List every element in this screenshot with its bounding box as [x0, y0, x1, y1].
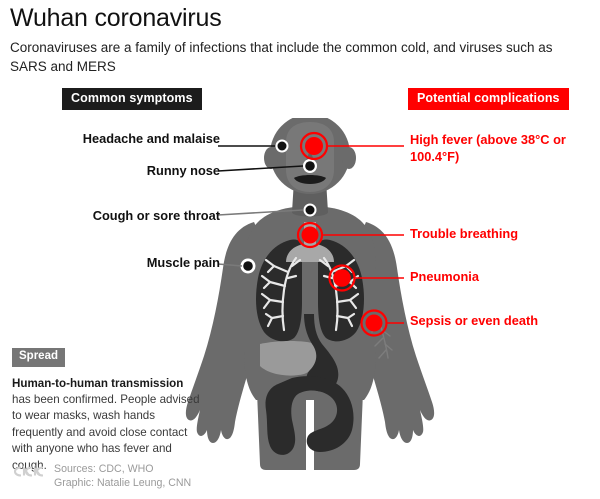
marker-runny-nose[interactable] — [303, 159, 317, 173]
marker-pneumonia[interactable] — [330, 266, 355, 291]
footer: Sources: CDC, WHO Graphic: Natalie Leung… — [12, 462, 191, 491]
marker-muscle-pain[interactable] — [241, 259, 256, 274]
header: Wuhan coronavirus Coronaviruses are a fa… — [10, 4, 590, 76]
spread-section: Spread Human-to-human transmission has b… — [12, 346, 204, 474]
liver-shape — [260, 341, 318, 376]
spread-lead: Human-to-human transmission — [12, 377, 183, 390]
marker-trouble-breathing[interactable] — [298, 223, 322, 247]
intestines-shape — [266, 376, 354, 455]
cnn-logo-icon — [12, 464, 46, 479]
footer-credits: Sources: CDC, WHO Graphic: Natalie Leung… — [54, 462, 191, 491]
ear-left-shape — [264, 147, 278, 169]
footer-graphic: Graphic: Natalie Leung, CNN — [54, 476, 191, 491]
symptom-label-runny-nose: Runny nose — [147, 163, 220, 180]
complication-label-trouble-breathing: Trouble breathing — [410, 226, 518, 243]
marker-headache[interactable] — [276, 140, 289, 153]
symptom-label-muscle-pain: Muscle pain — [147, 255, 220, 272]
spread-text: Human-to-human transmission has been con… — [12, 376, 204, 475]
marker-cough-throat[interactable] — [304, 204, 317, 217]
spread-body: has been confirmed. People advised to we… — [12, 393, 200, 472]
symptom-label-cough-throat: Cough or sore throat — [93, 208, 220, 225]
complication-label-sepsis: Sepsis or even death — [410, 313, 538, 330]
complication-label-high-fever: High fever (above 38°C or 100.4°F) — [410, 132, 585, 165]
ear-right-shape — [342, 147, 356, 169]
spread-badge: Spread — [12, 348, 65, 367]
page-title: Wuhan coronavirus — [10, 4, 590, 34]
symptom-label-headache: Headache and malaise — [83, 131, 220, 148]
human-body-diagram — [182, 118, 438, 486]
page-subtitle: Coronaviruses are a family of infections… — [10, 38, 588, 76]
complication-label-pneumonia: Pneumonia — [410, 269, 479, 286]
potential-complications-badge: Potential complications — [408, 88, 569, 110]
footer-sources: Sources: CDC, WHO — [54, 462, 191, 477]
common-symptoms-badge: Common symptoms — [62, 88, 202, 110]
